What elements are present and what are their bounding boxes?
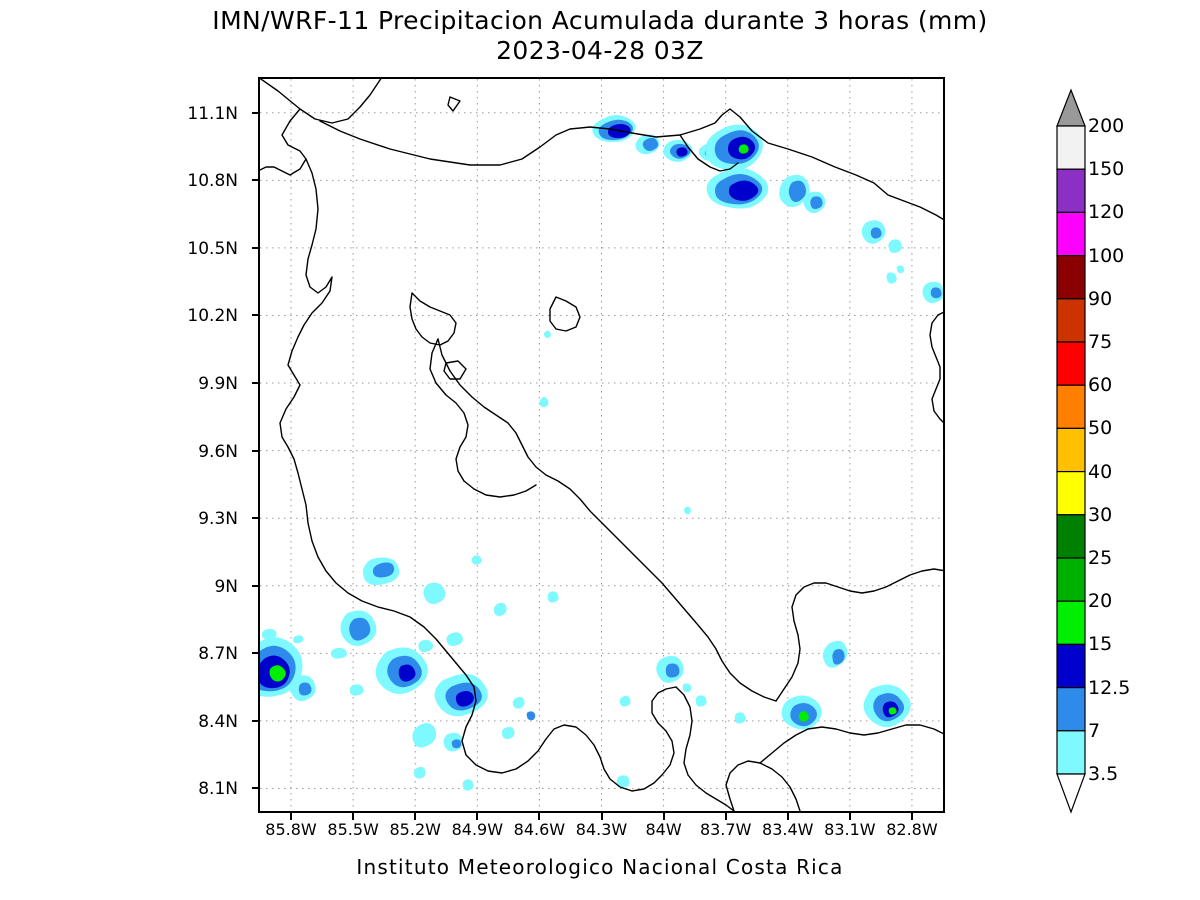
y-axis-tick-label: 8.4N: [198, 712, 238, 732]
precip-cell-pacific-9: [446, 632, 462, 646]
colorbar-tick-label: 12.5: [1088, 677, 1130, 699]
border-panama-south: [726, 761, 800, 811]
x-axis-tick-mark: [663, 813, 665, 820]
y-axis-tick-label: 9.6N: [198, 442, 238, 462]
y-axis-tick-label: 9.9N: [198, 374, 238, 394]
x-axis-tick-mark: [725, 813, 727, 820]
precip-cell-se-5: [923, 282, 944, 303]
colorbar-band: [1057, 428, 1085, 471]
precip-cell-pacific-4b: [331, 648, 347, 659]
x-axis-tick-label: 84.3W: [576, 820, 627, 839]
colorbar-band: [1057, 688, 1085, 731]
interior-lake-2: [550, 297, 580, 331]
golfo-dulce: [652, 687, 676, 775]
colorbar-band: [1057, 169, 1085, 212]
precipitation-field: [260, 115, 943, 791]
colorbar-tick-label: 25: [1088, 547, 1112, 569]
colorbar-band: [1057, 558, 1085, 601]
precip-speck-1: [684, 507, 691, 515]
precip-cell-pacific-2: [290, 675, 316, 701]
precip-speck-15: [735, 712, 746, 723]
x-axis-tick-label: 85.2W: [389, 820, 440, 839]
colorbar-tick-label: 15: [1088, 633, 1112, 655]
precip-cell-central-south: [707, 168, 769, 209]
colorbar-band: [1057, 601, 1085, 644]
precip-cell-pacific-4: [376, 648, 428, 695]
footer-credit: Instituto Meteorologico Nacional Costa R…: [0, 855, 1200, 879]
precip-cell-pacific-8: [412, 723, 436, 747]
precip-cell-central-main: [705, 125, 763, 171]
colorbar-tick-label: 50: [1088, 417, 1112, 439]
x-axis-tick-mark: [290, 813, 292, 820]
x-axis-tick-label: 83.4W: [762, 820, 813, 839]
precip-speck-5: [494, 603, 507, 616]
colorbar-band: [1057, 256, 1085, 299]
colorbar-tick-label: 20: [1088, 590, 1112, 612]
map-canvas: [260, 79, 943, 811]
precip-speck-11: [502, 727, 515, 739]
precip-speck-6: [548, 591, 559, 602]
precip-cell-se-2: [888, 239, 902, 253]
x-axis-tick-label: 84.9W: [452, 820, 503, 839]
interior-lake: [410, 293, 456, 345]
x-axis-tick-label: 85.8W: [265, 820, 316, 839]
precip-cell-caribbean-1: [656, 656, 683, 683]
precip-cell-pacific-7: [435, 674, 488, 716]
precip-cell-pacific-1c: [293, 635, 303, 643]
gulf-nicoya-island: [444, 361, 466, 379]
coastline-south-border: [676, 687, 734, 811]
precip-cell-cordillera-3: [663, 140, 692, 162]
colorbar-band: [1057, 342, 1085, 385]
colorbar-bands: [1057, 90, 1085, 812]
island-marker: [448, 97, 460, 111]
x-axis-tick-mark: [911, 813, 913, 820]
colorbar-tick-label: 30: [1088, 504, 1112, 526]
precip-cell-east-strong-1: [864, 685, 911, 727]
colorbar-tick-label: 120: [1088, 201, 1124, 223]
y-axis-tick-label: 11.1N: [187, 104, 238, 124]
colorbar-tick-label: 75: [1088, 331, 1112, 353]
colorbar-under-arrow: [1057, 774, 1085, 812]
colorbar-band: [1057, 299, 1085, 342]
y-axis-labels: 11.1N10.8N10.5N10.2N9.9N9.6N9.3N9N8.7N8.…: [0, 0, 252, 900]
precip-cell-se-3: [887, 272, 897, 283]
colorbar-band: [1057, 385, 1085, 428]
x-axis-tick-mark: [352, 813, 354, 820]
colorbar-band: [1057, 126, 1085, 169]
x-axis-tick-label: 84.6W: [514, 820, 565, 839]
x-axis-tick-mark: [849, 813, 851, 820]
colorbar-band: [1057, 731, 1085, 774]
precip-speck-13: [463, 779, 474, 790]
precip-speck-10: [696, 695, 707, 706]
precip-cell-pacific-6: [363, 558, 399, 586]
x-axis-tick-mark: [787, 813, 789, 820]
coastline-osa-peninsula: [456, 663, 662, 791]
y-axis-tick-label: 10.5N: [187, 239, 238, 259]
coastline-nw-bay: [260, 109, 306, 175]
x-axis-tick-label: 85.5W: [327, 820, 378, 839]
gulf-nicoya-mouth: [464, 481, 536, 497]
y-axis-tick-label: 9.3N: [198, 509, 238, 529]
precip-cell-se-4: [897, 265, 905, 273]
colorbar-tick-label: 200: [1088, 115, 1124, 137]
colorbar-band: [1057, 515, 1085, 558]
map-plot-area[interactable]: [258, 77, 945, 813]
x-axis-tick-mark: [538, 813, 540, 820]
gridlines: [260, 79, 943, 811]
x-axis-tick-label: 84W: [645, 820, 681, 839]
y-axis-tick-label: 10.8N: [187, 171, 238, 191]
colorbar-tick-label: 40: [1088, 461, 1112, 483]
colorbar-tick-label: 150: [1088, 158, 1124, 180]
x-axis-tick-label: 83.1W: [824, 820, 875, 839]
precip-speck-8: [683, 683, 692, 692]
colorbar-tick-label: 7: [1088, 720, 1100, 742]
colorbar-tick-label: 100: [1088, 245, 1124, 267]
coastline-nw-top: [260, 79, 382, 123]
precip-cell-east-strong-3: [823, 641, 847, 668]
y-axis-tick-label: 9N: [214, 577, 238, 597]
precip-speck-12: [527, 711, 536, 720]
y-axis-tick-label: 8.7N: [198, 644, 238, 664]
border-east-edge: [930, 311, 943, 425]
colorbar-band: [1057, 212, 1085, 255]
x-axis-tick-label: 83.7W: [700, 820, 751, 839]
y-axis-tick-label: 10.2N: [187, 306, 238, 326]
x-axis-tick-mark: [476, 813, 478, 820]
y-axis-tick-label: 8.1N: [198, 779, 238, 799]
colorbar-tick-label: 60: [1088, 374, 1112, 396]
x-axis-tick-mark: [601, 813, 603, 820]
precip-speck-14: [414, 767, 426, 779]
coastline-pacific-central: [438, 339, 776, 701]
colorbar-tick-label: 3.5: [1088, 763, 1118, 785]
colorbar-band: [1057, 644, 1085, 687]
gulf-nicoya-west: [430, 339, 468, 481]
colorbar[interactable]: 20015012010090756050403025201512.573.5: [1050, 88, 1200, 818]
x-axis-tick-label: 82.8W: [886, 820, 937, 839]
precip-cell-central-east-2: [803, 192, 825, 213]
precip-cell-pacific-4c: [350, 684, 364, 695]
colorbar-over-arrow: [1057, 90, 1085, 126]
precip-speck-9: [620, 696, 631, 707]
precip-speck-7: [513, 697, 525, 709]
colorbar-band: [1057, 472, 1085, 515]
precip-speck-3: [544, 331, 551, 339]
colorbar-tick-label: 90: [1088, 288, 1112, 310]
precip-speck-4: [472, 555, 482, 564]
precip-cell-caribbean-2: [444, 733, 463, 752]
coastline-caribbean-se: [776, 569, 943, 701]
colorbar-canvas: [1050, 88, 1200, 818]
x-axis-tick-mark: [414, 813, 416, 820]
precip-cell-pacific-3: [340, 611, 376, 646]
precip-cell-pacific-5b: [418, 640, 433, 652]
precip-cell-pacific-5: [424, 583, 446, 604]
precip-speck-2: [539, 397, 548, 407]
precip-cell-east-strong-2: [782, 696, 822, 730]
